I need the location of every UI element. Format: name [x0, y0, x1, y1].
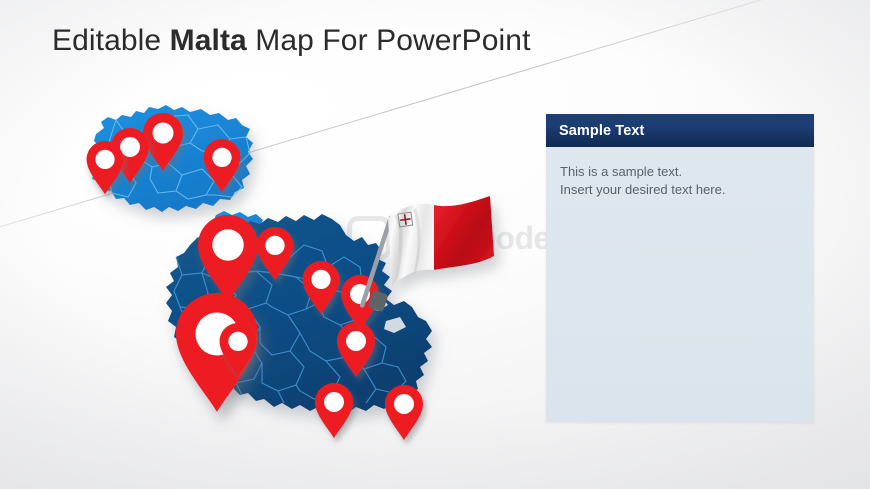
title-prefix: Editable — [52, 24, 170, 57]
title-strong: Malta — [170, 24, 247, 57]
map-pin-icon[interactable] — [385, 385, 423, 440]
sample-text-panel[interactable]: Sample Text This is a sample text. Inser… — [546, 114, 814, 422]
malta-flag-svg[interactable] — [368, 196, 498, 321]
flag-cloth — [388, 196, 494, 286]
malta-flag[interactable] — [368, 196, 498, 321]
map-pin-icon[interactable] — [315, 383, 353, 438]
panel-header: Sample Text — [546, 114, 814, 147]
slide-canvas: Editable Malta Map For PowerPoint SlideM… — [0, 0, 870, 489]
panel-header-title: Sample Text — [559, 123, 644, 139]
title-suffix: Map For PowerPoint — [247, 24, 531, 57]
panel-body-line-1: This is a sample text. — [560, 163, 800, 181]
panel-body-line-2: Insert your desired text here. — [560, 181, 800, 199]
page-title: Editable Malta Map For PowerPoint — [52, 24, 531, 58]
panel-body[interactable]: This is a sample text. Insert your desir… — [546, 147, 814, 422]
